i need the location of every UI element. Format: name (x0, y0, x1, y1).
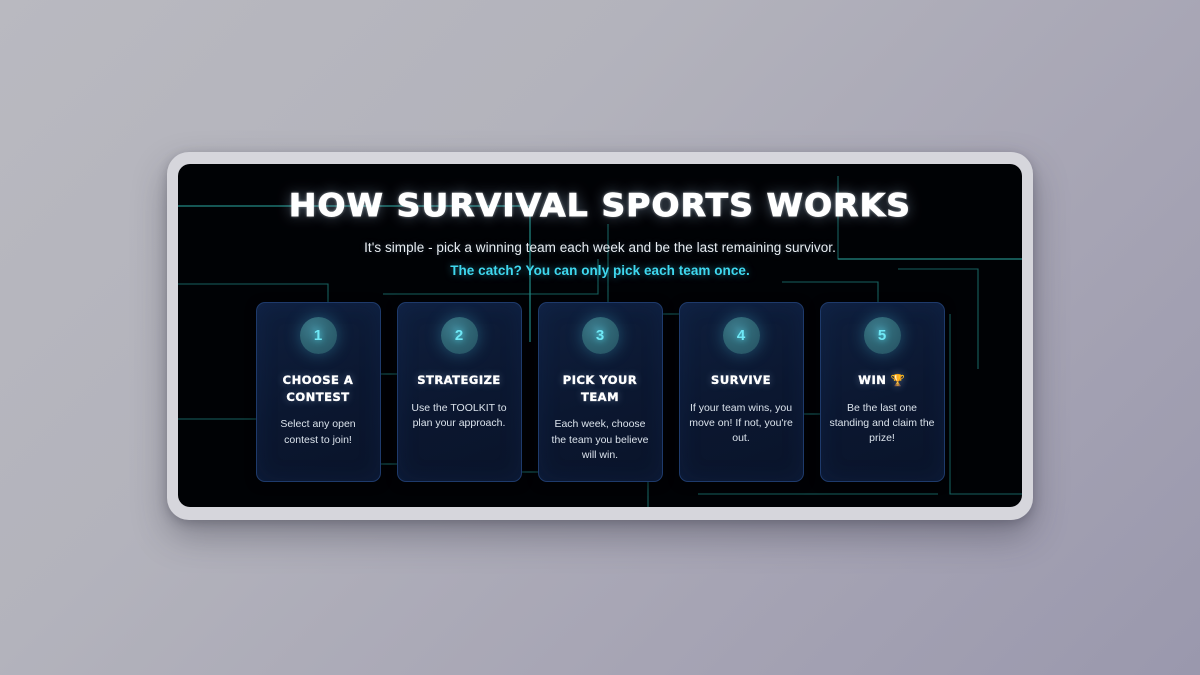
step-number-badge: 2 (441, 317, 478, 354)
step-number-badge: 5 (864, 317, 901, 354)
step-number-badge: 1 (300, 317, 337, 354)
trophy-icon: 🏆 (891, 373, 906, 387)
step-number-badge: 4 (723, 317, 760, 354)
steps-list: 1 CHOOSE A CONTEST Select any open conte… (178, 302, 1022, 482)
screen: HOW SURVIVAL SPORTS WORKS It's simple - … (178, 164, 1022, 507)
step-description: Be the last one standing and claim the p… (829, 401, 936, 447)
step-title-text: WIN (858, 373, 886, 387)
step-card-2[interactable]: 2 STRATEGIZE Use the TOOLKIT to plan you… (397, 302, 522, 482)
step-title: SURVIVE (711, 372, 771, 389)
device-mockup: HOW SURVIVAL SPORTS WORKS It's simple - … (167, 152, 1033, 520)
step-number-badge: 3 (582, 317, 619, 354)
step-description: Use the TOOLKIT to plan your approach. (406, 401, 513, 431)
step-description: If your team wins, you move on! If not, … (688, 401, 795, 447)
step-title: CHOOSE A CONTEST (265, 372, 372, 405)
step-title: WIN 🏆 (858, 372, 905, 389)
step-card-3[interactable]: 3 PICK YOUR TEAM Each week, choose the t… (538, 302, 663, 482)
step-card-5[interactable]: 5 WIN 🏆 Be the last one standing and cla… (820, 302, 945, 482)
step-description: Select any open contest to join! (265, 417, 372, 447)
hero-content: HOW SURVIVAL SPORTS WORKS It's simple - … (178, 164, 1022, 507)
hero-subline: It's simple - pick a winning team each w… (178, 240, 1022, 255)
page-title: HOW SURVIVAL SPORTS WORKS (178, 191, 1022, 222)
step-title: PICK YOUR TEAM (547, 372, 654, 405)
step-card-4[interactable]: 4 SURVIVE If your team wins, you move on… (679, 302, 804, 482)
step-card-1[interactable]: 1 CHOOSE A CONTEST Select any open conte… (256, 302, 381, 482)
step-description: Each week, choose the team you believe w… (547, 417, 654, 463)
step-title: STRATEGIZE (417, 372, 501, 389)
hero-catchline: The catch? You can only pick each team o… (178, 263, 1022, 278)
